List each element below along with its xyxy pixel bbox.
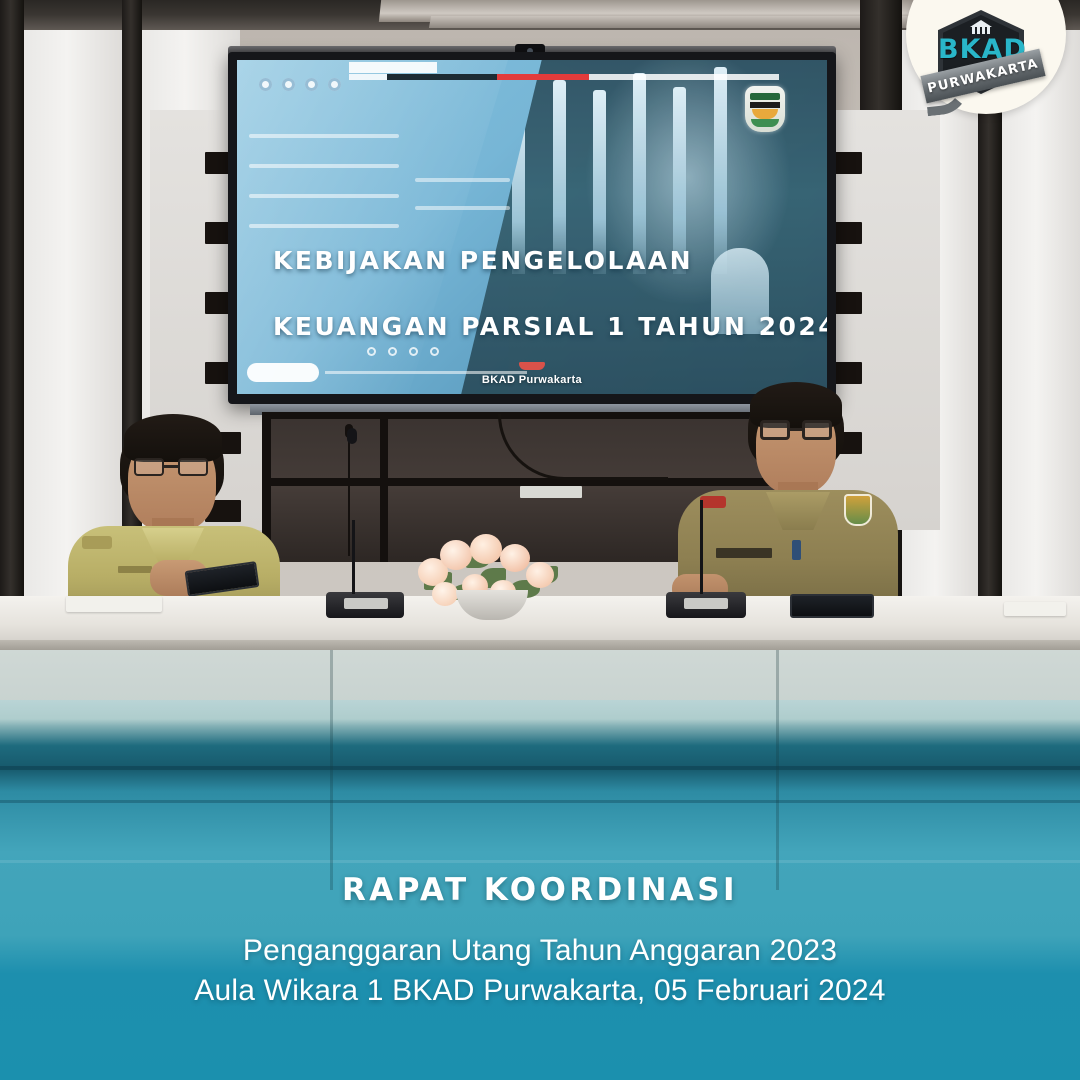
tv-stand-frame-bar [262,478,807,486]
band-panel-seam [330,700,333,890]
poster-subtitle-line1: Penganggaran Utang Tahun Anggaran 2023 [0,934,1080,968]
slide-title: KEBIJAKAN PENGELOLAAN KEUANGAN PARSIAL 1… [273,228,803,360]
slide-brand-mark-icon [519,362,545,370]
microphone-right-stem [700,500,703,594]
speaker-right-arm-badge [844,494,872,526]
wall-pillar-1 [0,0,24,640]
slide-header-tag [349,62,437,73]
band-dark-line [0,800,1080,803]
desk-tablet[interactable] [790,594,874,618]
speaker-left-name-tag [118,566,152,573]
desk-papers-right [1004,602,1066,616]
slide-brand-label: BKAD Purwakarta [482,374,582,386]
presentation-slide: KEBIJAKAN PENGELOLAAN KEUANGAN PARSIAL 1… [237,60,827,394]
speaker-left-shoulder-patch [82,536,112,549]
speaker-right-name-tag [716,548,772,558]
slide-footer-pill [247,363,319,382]
tv-stand-label [520,486,582,498]
speaker-left-hair-top [124,414,222,462]
speaker-left-glasses [134,458,212,478]
microphone-right-plate [684,598,728,609]
flower-vase [456,590,528,620]
slide-header-bar [349,74,779,80]
desk-papers-left [66,596,162,612]
speaker-right-glasses [760,420,834,442]
band-panel-seam [776,700,779,890]
microphone-left-head-icon [347,428,357,444]
poster-title: RAPAT KOORDINASI [0,872,1080,908]
poster-subtitle-line2: Aula Wikara 1 BKAD Purwakarta, 05 Februa… [0,974,1080,1008]
slide-footer-dots [367,347,439,356]
social-media-poster: KEBIJAKAN PENGELOLAAN KEUANGAN PARSIAL 1… [0,0,1080,1080]
flower-arrangement [418,528,568,620]
government-building-icon [970,20,992,34]
speaker-right-rank-insignia [700,496,726,508]
slide-decor-lines-secondary [415,178,510,234]
slide-dot-row [259,78,341,91]
meeting-room-photo: KEBIJAKAN PENGELOLAAN KEUANGAN PARSIAL 1… [0,0,1080,745]
bkad-purwakarta-logo[interactable]: BKAD PURWAKARTA [920,8,1052,100]
slide-title-line2: KEUANGAN PARSIAL 1 TAHUN 2024 [273,294,803,360]
wall-panel-right-2 [1000,30,1080,630]
presentation-display: KEBIJAKAN PENGELOLAAN KEUANGAN PARSIAL 1… [228,52,836,404]
microphone-left-plate [344,598,388,609]
microphone-wire [348,436,350,556]
band-highlight [0,700,1080,726]
band-dark-line [0,766,1080,770]
regional-emblem-icon [745,86,785,132]
tv-stand-frame-bar [380,412,388,562]
slide-title-line1: KEBIJAKAN PENGELOLAAN [273,228,803,294]
band-light-line [0,860,1080,863]
microphone-left-stem [352,520,355,594]
speaker-right-pin [792,540,801,560]
